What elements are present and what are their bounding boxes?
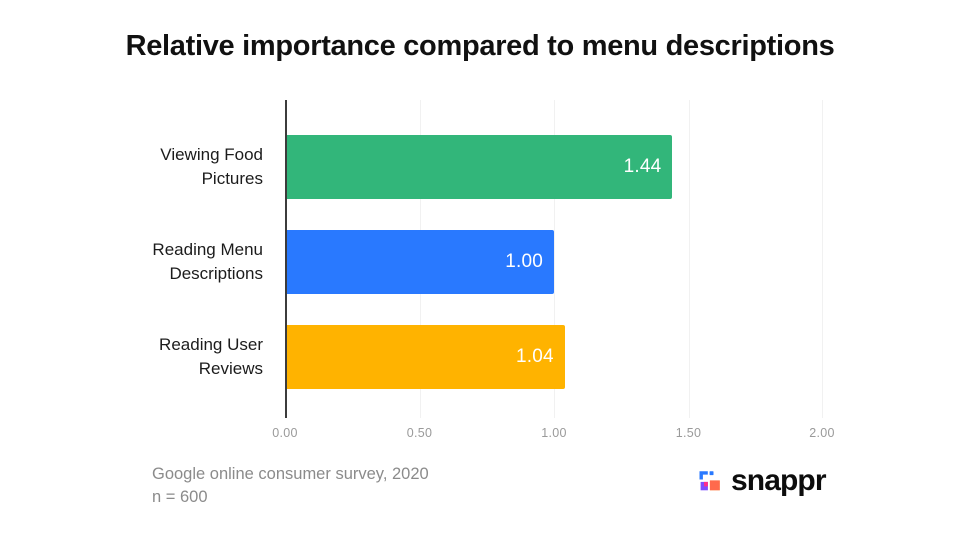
snappr-wordmark: snappr [731, 466, 826, 496]
slide-canvas: Relative importance compared to menu des… [0, 0, 960, 540]
category-label-viewing-food-pictures: Viewing Food Pictures [0, 143, 263, 191]
category-label-line: Pictures [0, 167, 263, 191]
bar-reading-user-reviews[interactable]: 1.04 [285, 325, 565, 389]
xtick-label-2: 1.00 [514, 426, 594, 440]
xtick-label-0: 0.00 [245, 426, 325, 440]
bar-value-label: 1.00 [505, 251, 543, 273]
category-label-line: Reviews [0, 357, 263, 381]
snappr-logo: snappr [698, 466, 826, 496]
xtick-label-1: 0.50 [380, 426, 460, 440]
snappr-squares-icon [698, 469, 722, 493]
category-label-line: Reading Menu [0, 238, 263, 262]
plot-area: 1.44 1.00 1.04 [285, 100, 823, 418]
xtick-label-4: 2.00 [782, 426, 862, 440]
bar-row: 1.44 [285, 135, 672, 199]
bar-viewing-food-pictures[interactable]: 1.44 [285, 135, 672, 199]
xtick-label-3: 1.50 [649, 426, 729, 440]
y-axis-line [285, 100, 287, 418]
gridline-1.50 [689, 100, 690, 418]
category-label-line: Viewing Food [0, 143, 263, 167]
bar-reading-menu-descriptions[interactable]: 1.00 [285, 230, 554, 294]
bar-value-label: 1.44 [624, 156, 662, 178]
page-title: Relative importance compared to menu des… [0, 30, 960, 63]
bar-row: 1.04 [285, 325, 565, 389]
gridline-2.00 [822, 100, 823, 418]
category-label-reading-user-reviews: Reading User Reviews [0, 333, 263, 381]
footnote-sample-size: n = 600 [152, 486, 429, 509]
chart-footnote: Google online consumer survey, 2020 n = … [152, 463, 429, 509]
footnote-source: Google online consumer survey, 2020 [152, 463, 429, 486]
bar-row: 1.00 [285, 230, 554, 294]
category-label-line: Reading User [0, 333, 263, 357]
category-label-reading-menu-descriptions: Reading Menu Descriptions [0, 238, 263, 286]
category-label-line: Descriptions [0, 262, 263, 286]
bar-value-label: 1.04 [516, 346, 554, 368]
